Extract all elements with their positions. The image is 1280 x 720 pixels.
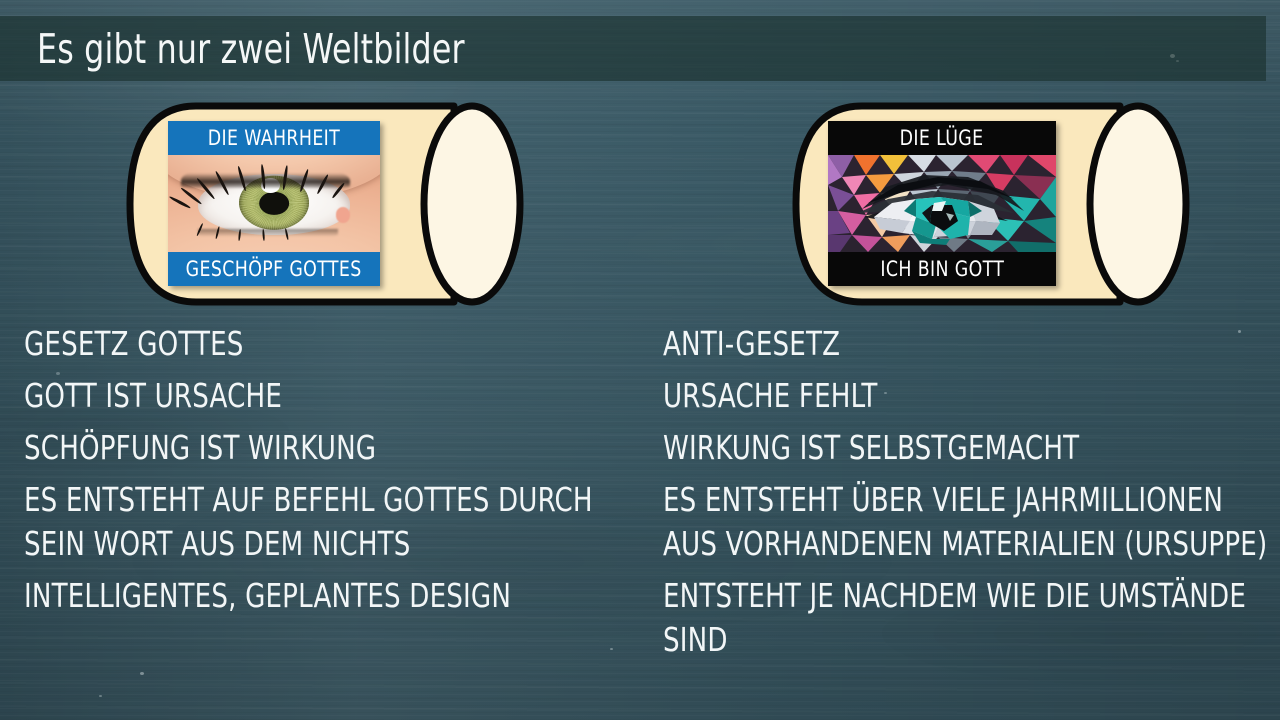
text-line: ES ENTSTEHT ÜBER VIELE JAHRMILLIONEN AUS…	[663, 478, 1270, 566]
text-column-right: ANTI-GESETZ URSACHE FEHLT WIRKUNG IST SE…	[663, 322, 1273, 662]
text-line: ENTSTEHT JE NACHDEM WIE DIE UMSTÄNDE SIN…	[663, 574, 1270, 662]
panel-lie-top-label-band: DIE LÜGE	[828, 121, 1056, 155]
panel-truth-cylinder: DIE WAHRHEIT	[124, 98, 524, 310]
panel-truth-image-card: DIE WAHRHEIT	[168, 121, 380, 286]
panel-lie-top-label: DIE LÜGE	[900, 126, 984, 150]
panel-lie-bottom-label: ICH BIN GOTT	[880, 257, 1004, 281]
text-line: URSACHE FEHLT	[663, 374, 1270, 418]
text-line: ES ENTSTEHT AUF BEFEHL GOTTES DURCH SEIN…	[24, 478, 631, 566]
page-title: Es gibt nur zwei Weltbilder	[37, 17, 983, 81]
text-line: WIRKUNG IST SELBSTGEMACHT	[663, 426, 1270, 470]
panel-lie-image-card: DIE LÜGE	[828, 121, 1056, 286]
panel-truth-top-label: DIE WAHRHEIT	[208, 126, 340, 150]
slide-canvas: Es gibt nur zwei Weltbilder DIE WAHRHEIT	[0, 0, 1280, 720]
text-line: GESETZ GOTTES	[24, 322, 631, 366]
low-poly-eye-icon	[828, 155, 1056, 252]
text-line: ANTI-GESETZ	[663, 322, 1270, 366]
panel-truth-bottom-label: GESCHÖPF GOTTES	[186, 257, 362, 281]
text-line: INTELLIGENTES, GEPLANTES DESIGN	[24, 574, 631, 618]
panel-lie-bottom-label-band: ICH BIN GOTT	[828, 252, 1056, 286]
panel-truth-photo	[168, 155, 380, 252]
text-line: GOTT IST URSACHE	[24, 374, 631, 418]
realistic-eye-icon	[168, 155, 380, 252]
panel-lie-photo	[828, 155, 1056, 252]
panel-truth-bottom-label-band: GESCHÖPF GOTTES	[168, 252, 380, 286]
text-line: SCHÖPFUNG IST WIRKUNG	[24, 426, 631, 470]
panel-lie-cylinder: DIE LÜGE	[790, 98, 1190, 310]
panel-truth-top-label-band: DIE WAHRHEIT	[168, 121, 380, 155]
text-column-left: GESETZ GOTTES GOTT IST URSACHE SCHÖPFUNG…	[24, 322, 634, 618]
